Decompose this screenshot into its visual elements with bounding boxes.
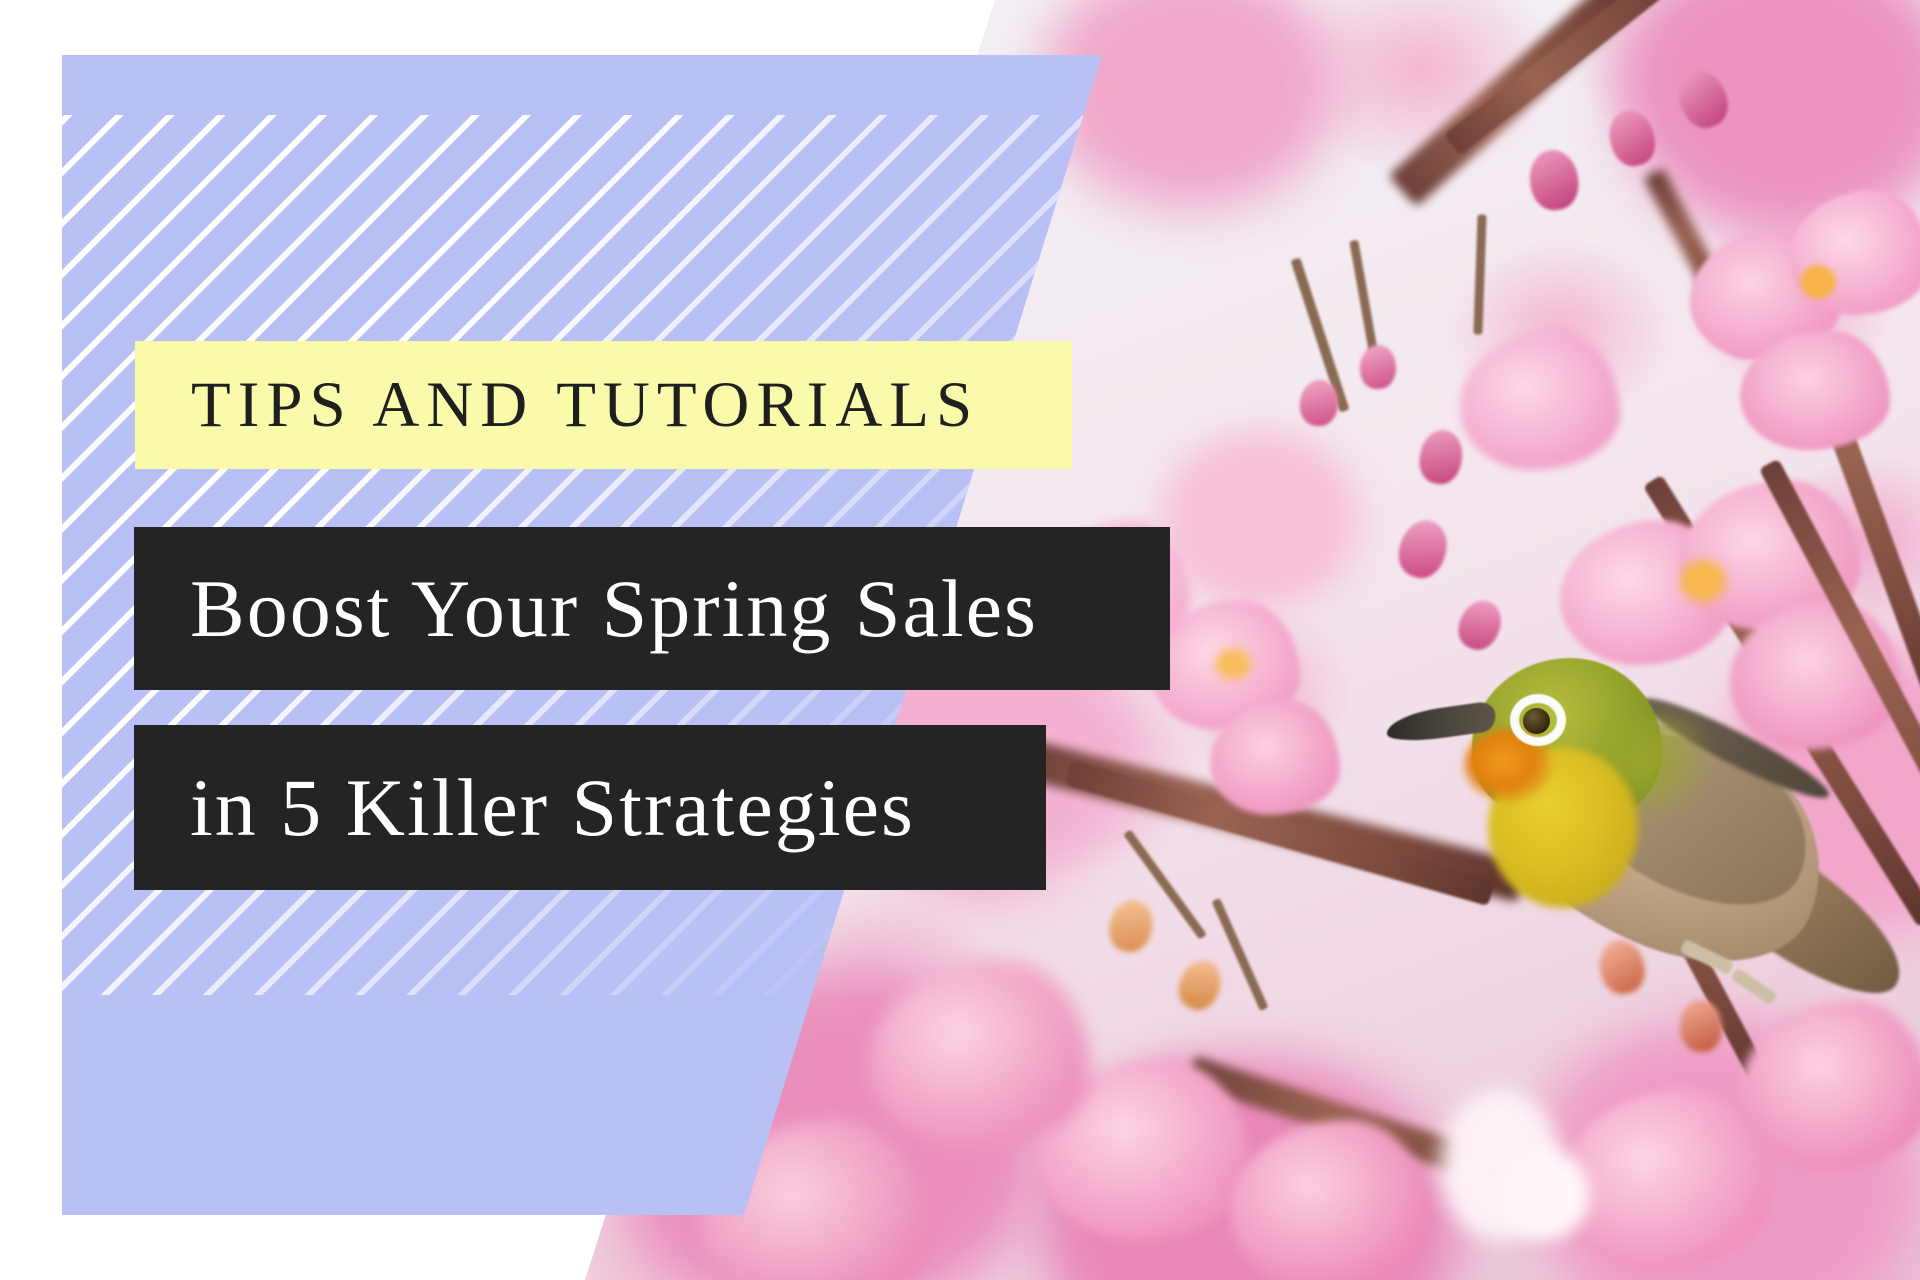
headline-banner-line-2: in 5 Killer Strategies (134, 725, 1046, 890)
eyebrow-text: TIPS AND TUTORIALS (191, 368, 979, 443)
headline-text-line-2: in 5 Killer Strategies (190, 761, 915, 855)
headline-text-line-1: Boost Your Spring Sales (190, 562, 1038, 656)
banner-canvas: TIPS AND TUTORIALS Boost Your Spring Sal… (0, 0, 1920, 1280)
eyebrow-banner: TIPS AND TUTORIALS (135, 341, 1072, 469)
headline-banner-line-1: Boost Your Spring Sales (134, 527, 1170, 690)
